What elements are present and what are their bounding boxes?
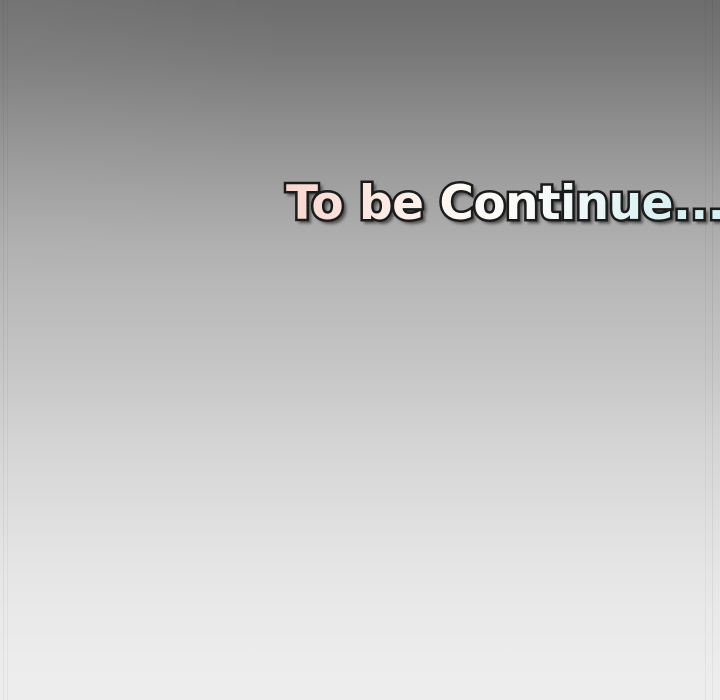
to-be-continued-caption: To be Continue... To be Continue... To b… — [286, 178, 720, 240]
background-gradient — [0, 0, 720, 700]
caption-text-fill: To be Continue... — [286, 178, 720, 230]
comic-panel: To be Continue... To be Continue... To b… — [0, 0, 720, 700]
